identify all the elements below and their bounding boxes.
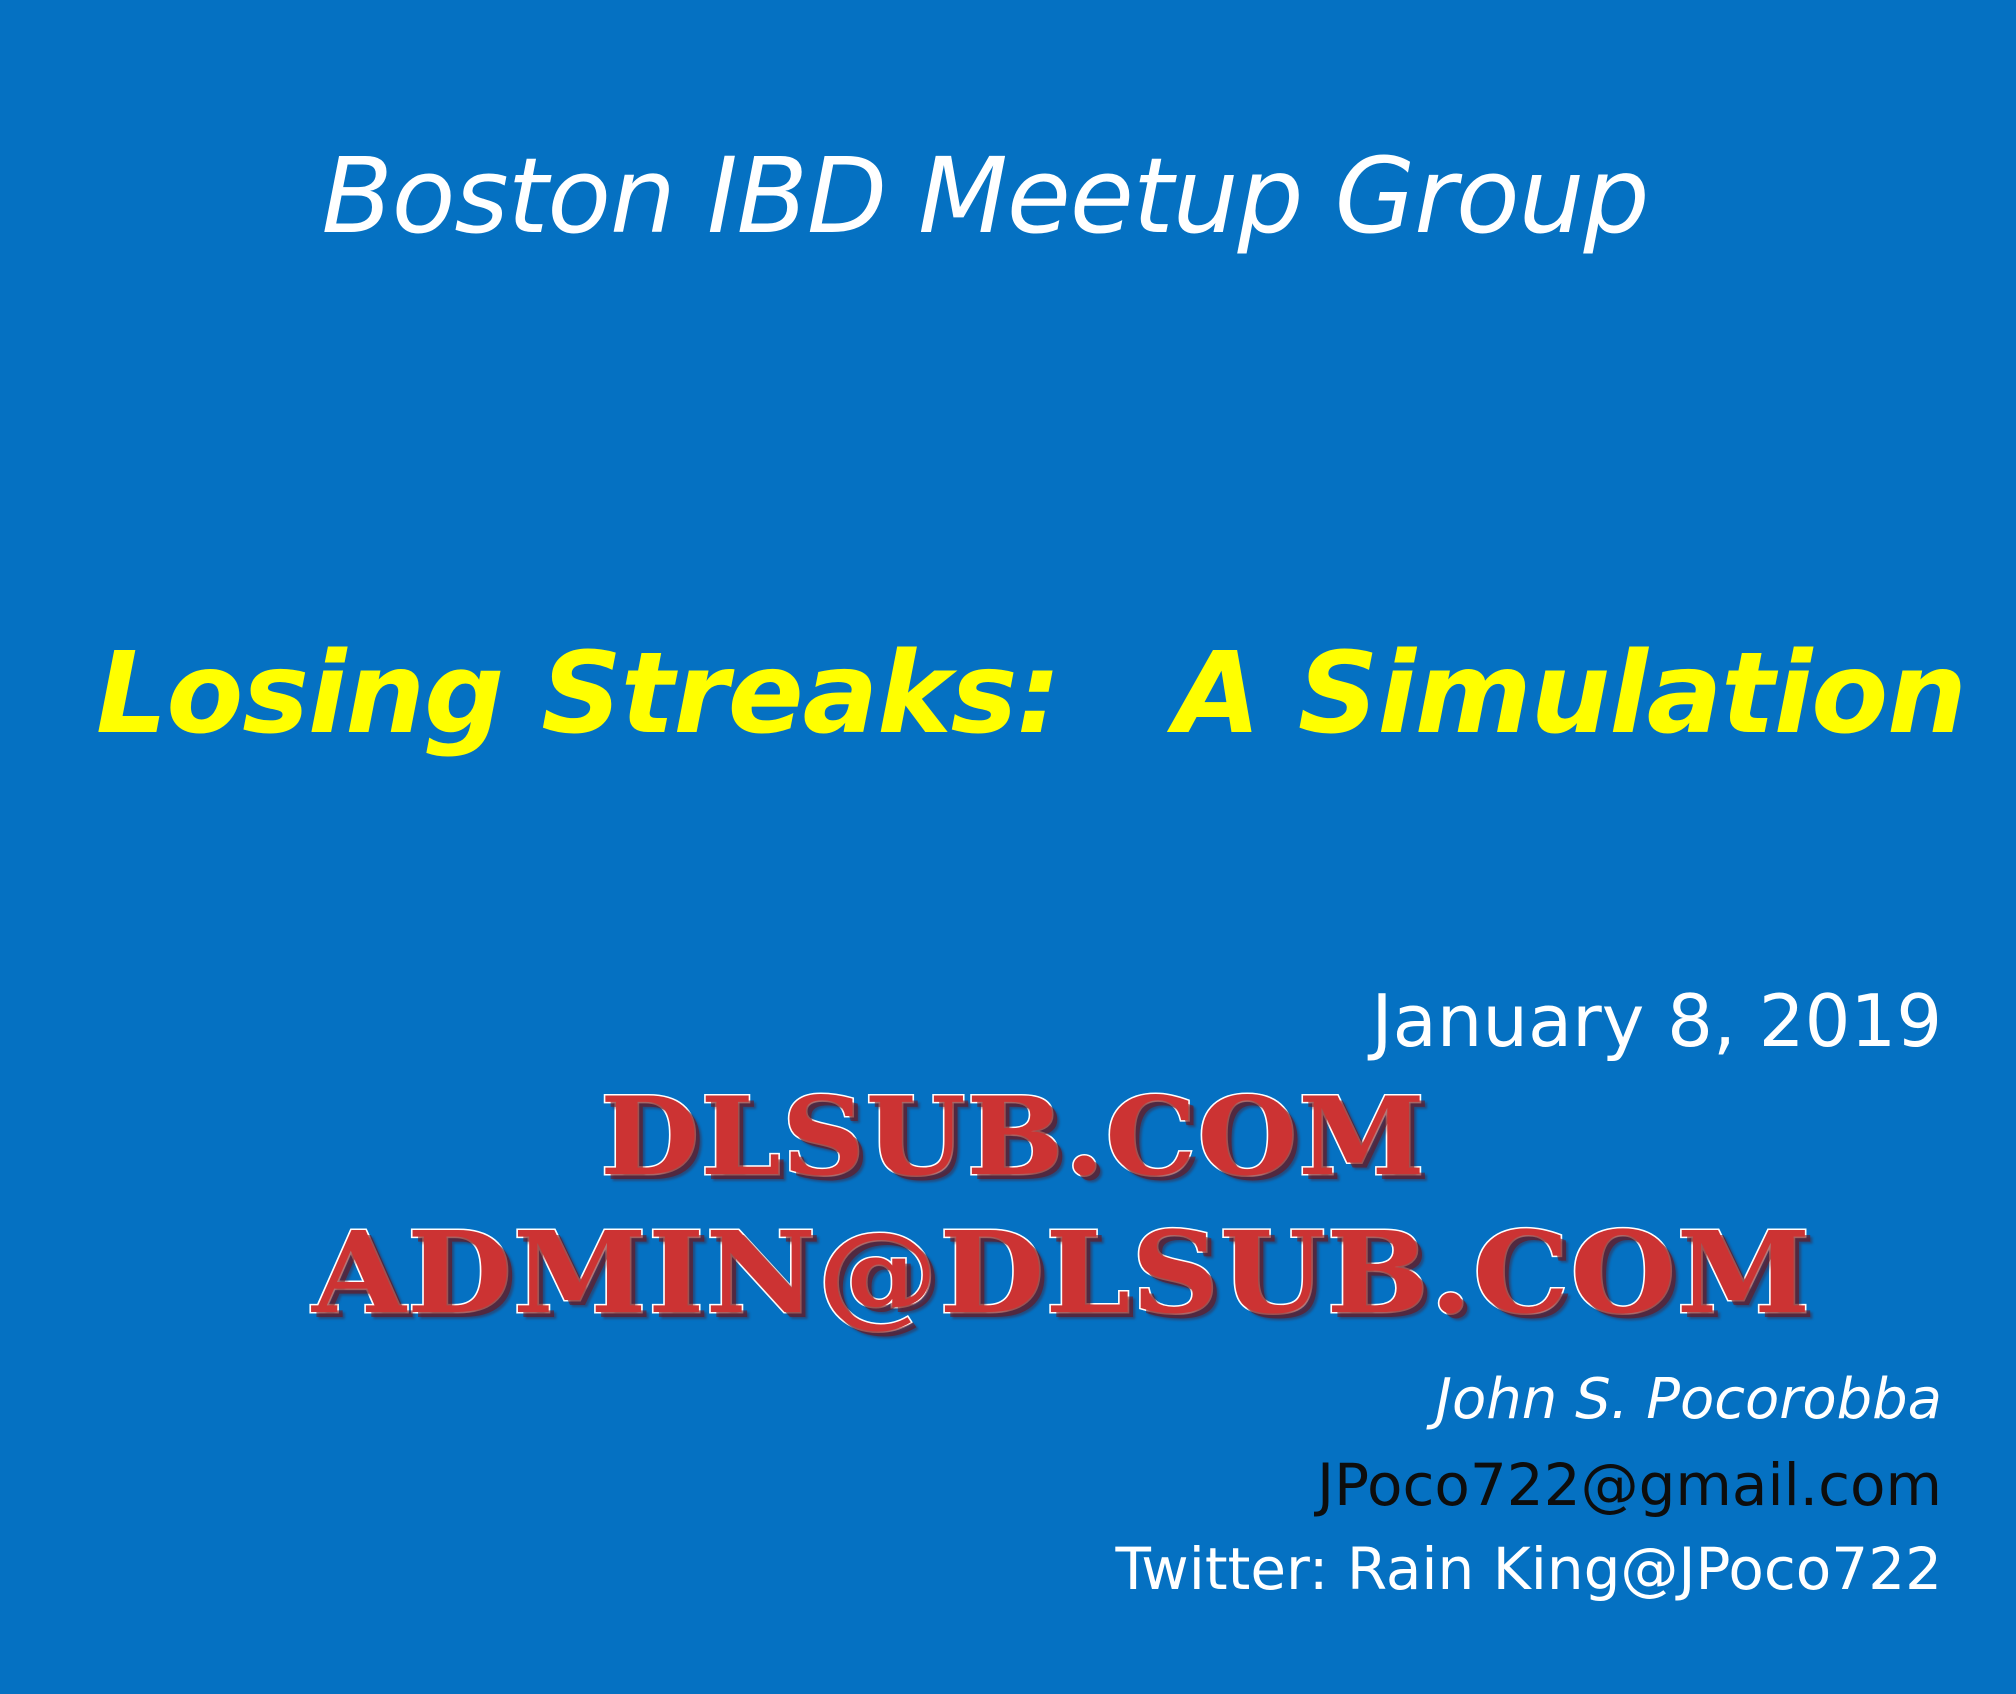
author-twitter-handle: Twitter: Rain King@JPoco722	[1115, 1540, 1942, 1598]
watermark-site-text: DLSUB.COM	[600, 1074, 1426, 1200]
author-email: JPoco722@gmail.com	[1115, 1456, 1942, 1514]
author-name: John S. Pocorobba	[1115, 1372, 1942, 1428]
slide-headline: Losing Streaks: A Simulation	[96, 636, 1942, 752]
presentation-slide: Boston IBD Meetup Group Losing Streaks: …	[0, 0, 2016, 1694]
page-title: Boston IBD Meetup Group	[0, 140, 1970, 252]
watermark-overlay: DLSUB.COM ADMIN@DLSUB.COM	[0, 1060, 2016, 1360]
presentation-date: January 8, 2019	[1371, 980, 1942, 1063]
faint-residual-text	[330, 856, 1600, 910]
watermark-email-text: ADMIN@DLSUB.COM	[312, 1208, 1812, 1339]
contact-block: John S. Pocorobba JPoco722@gmail.com Twi…	[1115, 1372, 1942, 1598]
